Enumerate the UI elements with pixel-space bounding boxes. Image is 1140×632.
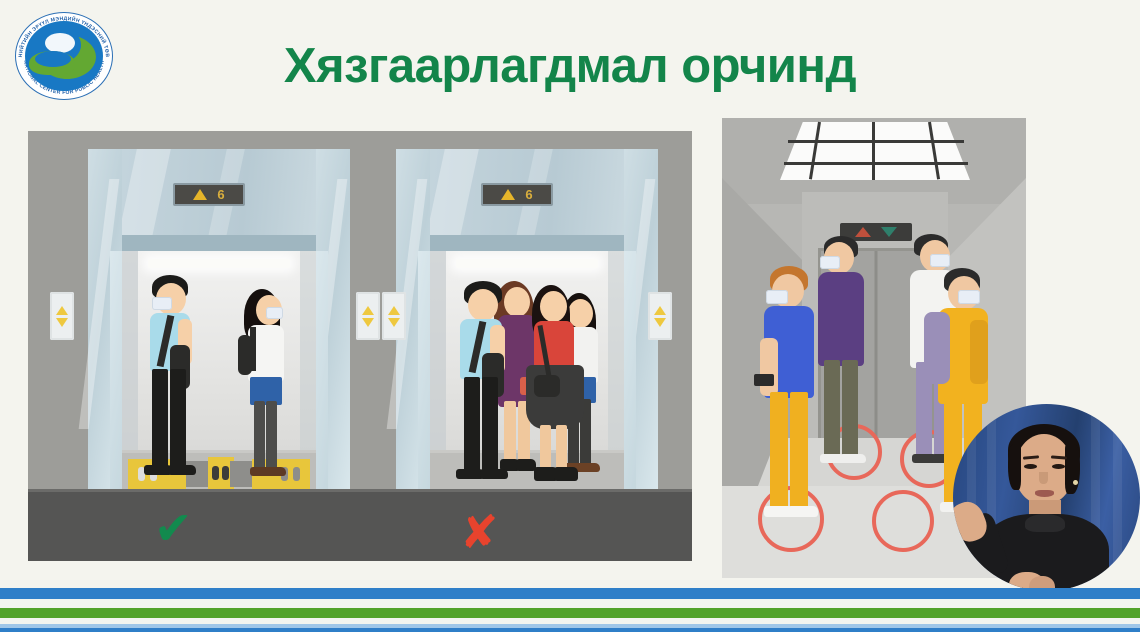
stripe xyxy=(0,588,1140,599)
call-button-plate-middle-b[interactable] xyxy=(382,292,406,340)
distance-marker-ring xyxy=(872,490,934,552)
call-up-arrow-icon xyxy=(56,306,68,315)
leg-right xyxy=(790,392,808,510)
handbag xyxy=(534,375,560,397)
footprint-icon xyxy=(212,466,219,480)
leg-right xyxy=(842,360,858,458)
call-up-arrow-icon xyxy=(362,306,374,315)
stripe xyxy=(0,599,1140,608)
smartphone-icon xyxy=(754,374,774,386)
interpreter-nose xyxy=(1039,472,1048,484)
face-mask-icon xyxy=(958,290,980,304)
hall-floor-edge xyxy=(28,489,692,492)
interpreter-hair-side-right xyxy=(1065,444,1080,494)
call-down-arrow-icon xyxy=(388,318,400,327)
leg-left xyxy=(540,425,551,473)
leg-right xyxy=(482,377,498,473)
call-down-arrow-icon xyxy=(362,318,374,327)
leg-left xyxy=(770,392,788,510)
person-man-blue-shirt-crowded xyxy=(452,281,518,489)
interpreter-eye-left xyxy=(1024,464,1037,469)
leg-left xyxy=(464,377,480,473)
leg-right xyxy=(266,401,277,471)
indicator-floor-digit: 6 xyxy=(525,187,532,202)
call-down-arrow-icon xyxy=(56,318,68,327)
leg-right xyxy=(556,425,567,473)
bad-example-cross-mark: ✘ xyxy=(460,509,499,555)
elevator-bad-example: 6 xyxy=(396,149,658,489)
leg-left xyxy=(254,401,265,471)
skylight-bar xyxy=(872,122,875,180)
slide-root: НИЙТИЙН ЭРҮҮЛ МЭНДИЙН ҮНДЭСНИЙ ТӨВ NATIO… xyxy=(0,0,1140,632)
footprint-icon xyxy=(222,466,229,480)
face-mask-icon xyxy=(930,254,950,267)
shoe-right xyxy=(168,465,196,475)
call-button-plate-left[interactable] xyxy=(50,292,74,340)
call-up-arrow-icon xyxy=(654,306,666,315)
shoe-right xyxy=(788,506,818,517)
floor-indicator-bad: 6 xyxy=(481,183,553,206)
indicator-up-arrow-icon xyxy=(501,189,515,200)
hall-floor xyxy=(28,489,692,561)
call-down-arrow-icon xyxy=(654,318,666,327)
interpreter-hair-side-left xyxy=(1008,444,1021,490)
person-man-blue-shirt xyxy=(138,275,208,489)
skylight-bar xyxy=(784,162,968,165)
face-mask-icon xyxy=(266,307,283,319)
backpack xyxy=(238,335,252,375)
interpreter-earring xyxy=(1073,480,1078,485)
sign-language-interpreter xyxy=(953,404,1140,591)
door-jamb-right xyxy=(622,251,636,489)
leg-left xyxy=(824,360,840,458)
leg-right xyxy=(170,369,186,469)
interpreter-collar xyxy=(1025,514,1065,532)
leg-left xyxy=(152,369,168,469)
call-button-plate-middle-a[interactable] xyxy=(356,292,380,340)
curtain-fold xyxy=(1113,404,1122,591)
backpack xyxy=(924,312,950,384)
elevator-cabin-good xyxy=(122,251,316,489)
arm xyxy=(970,320,988,384)
elevator-good-example: 6 xyxy=(88,149,350,489)
cabin-ceiling-light xyxy=(456,259,598,268)
stripe xyxy=(0,628,1140,632)
head xyxy=(540,291,567,322)
elevator-comparison-illustration: 6 xyxy=(28,131,692,561)
person-woman-red-top xyxy=(522,285,588,489)
good-example-checkmark: ✔ xyxy=(154,505,193,551)
decorative-stripe-bar xyxy=(0,588,1140,632)
face-mask-icon xyxy=(152,297,172,310)
call-up-arrow-icon xyxy=(388,306,400,315)
floor-indicator-good: 6 xyxy=(173,183,245,206)
door-jamb-right xyxy=(314,251,328,489)
shoe-right xyxy=(840,454,866,463)
indicator-down-arrow-icon xyxy=(881,227,897,237)
arm xyxy=(760,338,778,396)
head xyxy=(468,289,498,321)
shoe-right xyxy=(554,467,578,481)
cabin-ceiling-light xyxy=(148,259,290,268)
shoe-right xyxy=(264,467,286,476)
indicator-up-arrow-icon xyxy=(193,189,207,200)
corridor-skylight xyxy=(780,122,970,180)
interpreter-mouth xyxy=(1035,490,1054,497)
skylight-bar xyxy=(788,140,964,143)
person-woman-white-top xyxy=(236,289,298,487)
indicator-floor-digit: 6 xyxy=(217,187,224,202)
shoe-right xyxy=(480,469,508,479)
interpreter-eye-right xyxy=(1052,464,1065,469)
face-mask-icon xyxy=(766,290,788,304)
person-man-blue-tshirt-phone xyxy=(760,266,826,542)
page-title: Хязгаарлагдмал орчинд xyxy=(0,38,1140,94)
elevator-cabin-bad xyxy=(430,251,624,489)
call-button-plate-right[interactable] xyxy=(648,292,672,340)
stripe xyxy=(0,608,1140,618)
